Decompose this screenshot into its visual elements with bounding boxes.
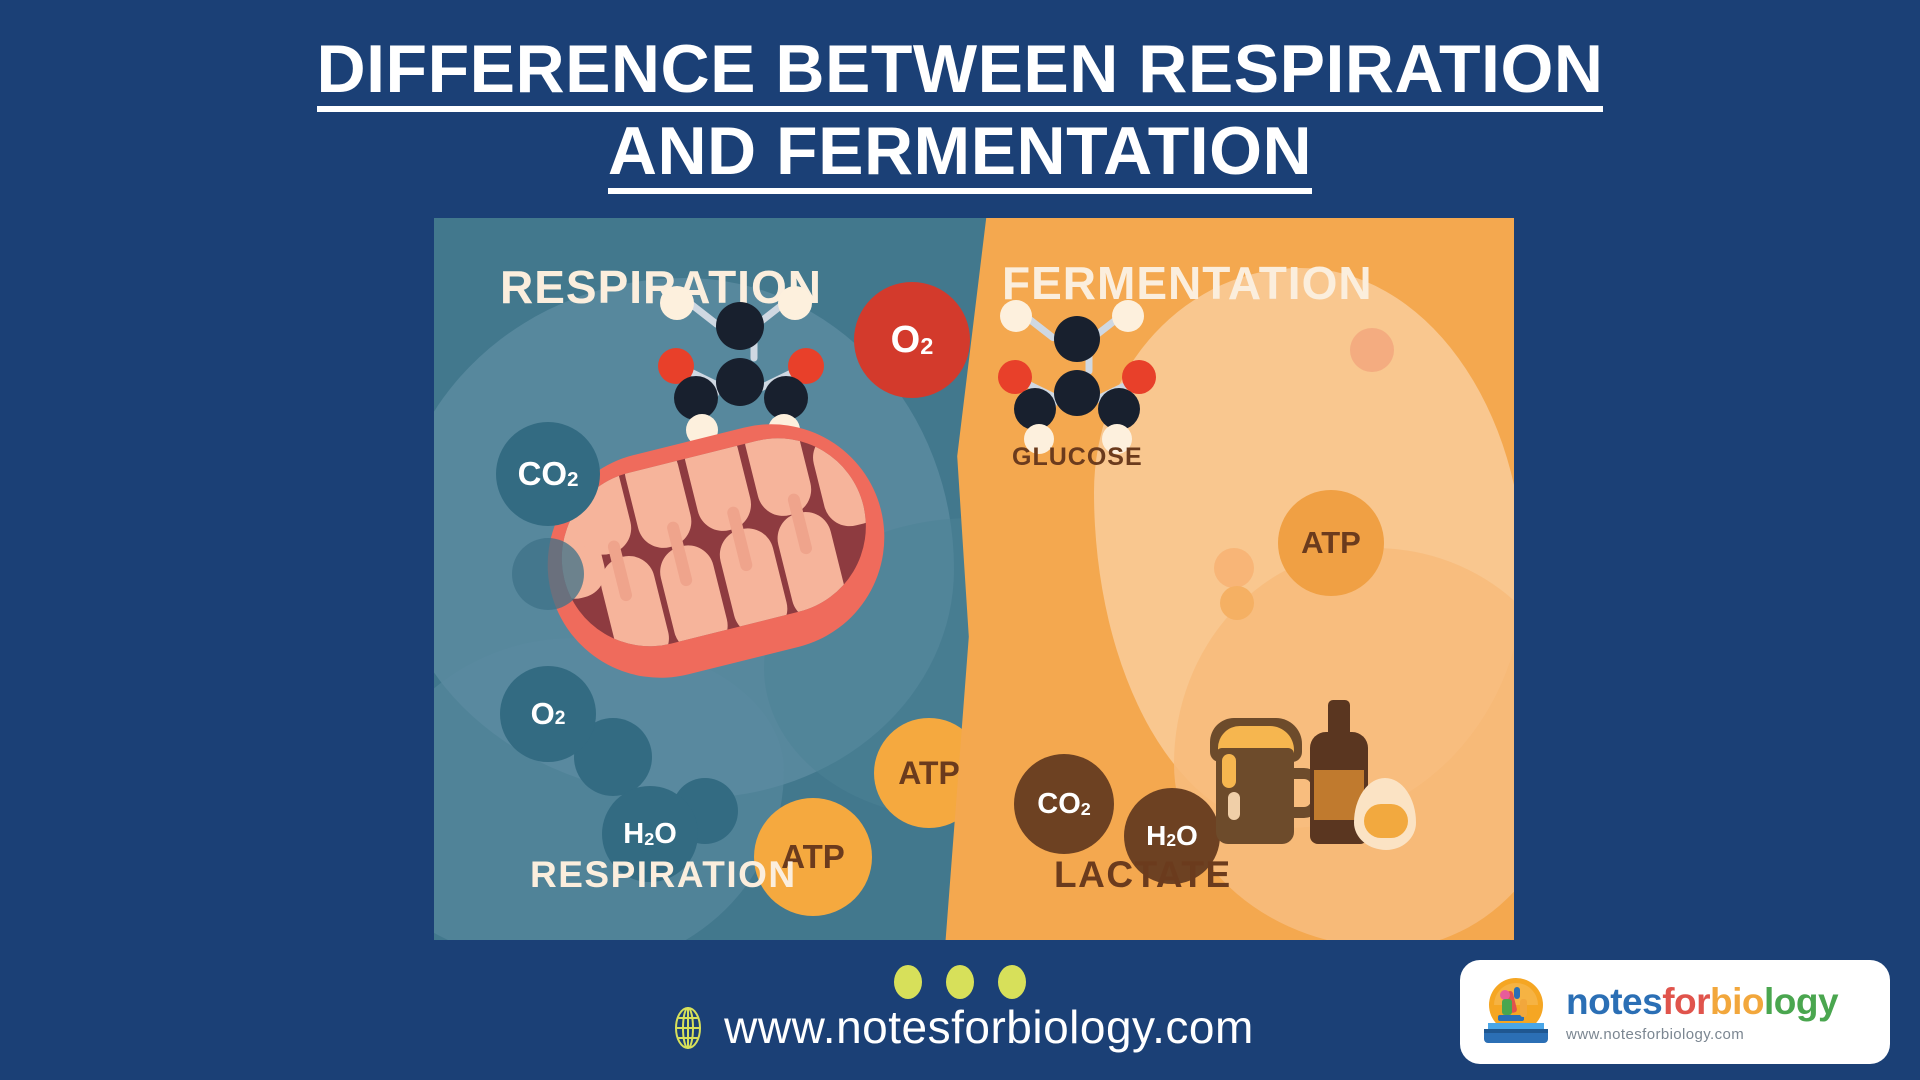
footer-url-text: www.notesforbiology.com bbox=[724, 1001, 1254, 1053]
bubble-h2o-right-label: H bbox=[1146, 820, 1166, 852]
bubble-h2o-right-tail: O bbox=[1176, 820, 1198, 852]
logo-part-for: for bbox=[1662, 981, 1710, 1022]
bubble-h2o-left-tail: O bbox=[654, 818, 677, 851]
right-blob-4 bbox=[1214, 548, 1254, 588]
site-logo-card[interactable]: notesforbiology www.notesforbiology.com bbox=[1460, 960, 1890, 1064]
page-title: DIFFERENCE BETWEEN RESPIRATION AND FERME… bbox=[0, 34, 1920, 194]
bubble-co2-left-sub: 2 bbox=[567, 468, 578, 492]
decor-bubble-right bbox=[1220, 586, 1254, 620]
logo-part-logy: logy bbox=[1764, 981, 1838, 1022]
dot-2 bbox=[946, 965, 974, 999]
fermentation-products-icons bbox=[1202, 696, 1382, 866]
bubble-co2-right-label: CO bbox=[1037, 788, 1081, 821]
bubble-co2-left-label: CO bbox=[518, 455, 568, 493]
respiration-footer-label: RESPIRATION bbox=[530, 854, 797, 896]
dot-1 bbox=[894, 965, 922, 999]
logo-subtitle: www.notesforbiology.com bbox=[1566, 1027, 1838, 1042]
bubble-h2o-right-sub: 2 bbox=[1166, 830, 1176, 851]
title-line-1: DIFFERENCE BETWEEN RESPIRATION bbox=[317, 34, 1604, 112]
right-blob-3 bbox=[1350, 328, 1394, 372]
logo-part-bio: bio bbox=[1710, 981, 1764, 1022]
bubble-atp-3: ATP bbox=[1278, 490, 1384, 596]
logo-text-block: notesforbiology www.notesforbiology.com bbox=[1566, 983, 1838, 1042]
logo-title: notesforbiology bbox=[1566, 983, 1838, 1020]
glucose-molecule-right bbox=[994, 296, 1204, 441]
microscope-book-icon bbox=[1478, 975, 1554, 1049]
bubble-o2-left-label: O bbox=[531, 696, 555, 732]
globe-icon bbox=[666, 1006, 710, 1061]
title-line-2: AND FERMENTATION bbox=[608, 116, 1312, 194]
logo-part-notes: notes bbox=[1566, 981, 1662, 1022]
bubble-o2-red-label: O bbox=[891, 319, 921, 362]
bubble-h2o-left-sub: 2 bbox=[644, 829, 654, 850]
dot-3 bbox=[998, 965, 1026, 999]
bubble-o2-left: O2 bbox=[500, 666, 596, 762]
bubble-co2-right-sub: 2 bbox=[1081, 799, 1091, 820]
bubble-o2-left-sub: 2 bbox=[555, 708, 566, 730]
bubble-o2-red-sub: 2 bbox=[920, 333, 933, 360]
glucose-label: GLUCOSE bbox=[1012, 443, 1143, 472]
bubble-h2o-left-label: H bbox=[623, 818, 644, 851]
lactate-footer-label: LACTATE bbox=[1054, 854, 1232, 896]
bubble-co2-left: CO2 bbox=[496, 422, 600, 526]
comparison-illustration: RESPIRATION bbox=[434, 218, 1514, 940]
decor-bubble-1 bbox=[512, 538, 584, 610]
bubble-co2-right: CO2 bbox=[1014, 754, 1114, 854]
bubble-o2-red: O2 bbox=[854, 282, 970, 398]
